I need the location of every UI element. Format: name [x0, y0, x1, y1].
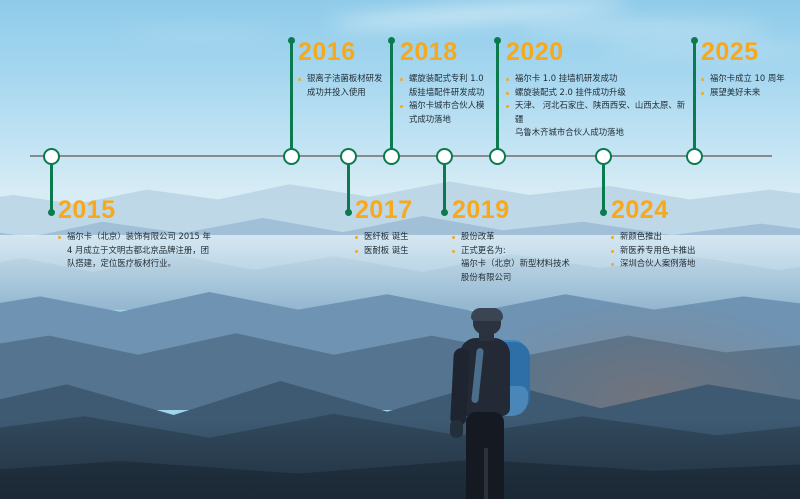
- bullet-list-2025: 福尔卡成立 10 周年 展望美好未来: [701, 72, 796, 99]
- stem-cap-2024: [600, 209, 607, 216]
- bullet-list-2024: 新颜色推出 新医养专用色卡推出 深圳合伙人案例落地: [611, 230, 741, 271]
- entry-2015[interactable]: 2015 福尔卡（北京）装饰有限公司 2015 年 4 月成立于文明古都北京品牌…: [58, 198, 243, 271]
- bullet-item: 正式更名为: 福尔卡（北京）新型材料技术 股份有限公司: [452, 244, 572, 285]
- stem-cap-2025: [691, 37, 698, 44]
- bullet-item: 新医养专用色卡推出: [611, 244, 741, 258]
- node-2016[interactable]: [283, 148, 300, 165]
- hiker-hand: [450, 420, 463, 438]
- node-2020[interactable]: [489, 148, 506, 165]
- entry-2017[interactable]: 2017 医纤板 诞生 医耐板 诞生: [355, 198, 450, 257]
- year-label-2018: 2018: [400, 40, 495, 65]
- stem-cap-2017: [345, 209, 352, 216]
- stem-cap-2020: [494, 37, 501, 44]
- year-label-2017: 2017: [355, 198, 450, 223]
- stem-2017: [347, 165, 350, 212]
- stem-2025: [693, 40, 696, 152]
- entry-2016[interactable]: 2016 银离子洁菌板材研发 成功并投入使用: [298, 40, 393, 99]
- stem-2020: [496, 40, 499, 152]
- bullet-item: 福尔卡（北京）装饰有限公司 2015 年 4 月成立于文明古都北京品牌注册，团 …: [58, 230, 243, 271]
- bullet-item: 新颜色推出: [611, 230, 741, 244]
- bullet-item: 福尔卡成立 10 周年: [701, 72, 796, 86]
- year-label-2016: 2016: [298, 40, 393, 65]
- bullet-item: 螺旋装配式 2.0 挂件成功升级: [506, 86, 686, 100]
- hiker-leg-split: [484, 448, 488, 499]
- bullet-list-2020: 福尔卡 1.0 挂墙机研发成功 螺旋装配式 2.0 挂件成功升级 天津、 河北石…: [506, 72, 686, 140]
- bullet-item: 医纤板 诞生: [355, 230, 450, 244]
- bullet-list-2016: 银离子洁菌板材研发 成功并投入使用: [298, 72, 393, 99]
- entry-2025[interactable]: 2025 福尔卡成立 10 周年 展望美好未来: [701, 40, 796, 99]
- bullet-list-2015: 福尔卡（北京）装饰有限公司 2015 年 4 月成立于文明古都北京品牌注册，团 …: [58, 230, 243, 271]
- entry-2024[interactable]: 2024 新颜色推出 新医养专用色卡推出 深圳合伙人案例落地: [611, 198, 741, 271]
- year-label-2024: 2024: [611, 198, 741, 223]
- stem-cap-2015: [48, 209, 55, 216]
- entry-2020[interactable]: 2020 福尔卡 1.0 挂墙机研发成功 螺旋装配式 2.0 挂件成功升级 天津…: [506, 40, 686, 140]
- cloud: [520, 22, 770, 34]
- timeline-axis: [30, 155, 772, 157]
- timeline-infographic: 2015 福尔卡（北京）装饰有限公司 2015 年 4 月成立于文明古都北京品牌…: [0, 0, 800, 499]
- bullet-item: 医耐板 诞生: [355, 244, 450, 258]
- node-2017[interactable]: [340, 148, 357, 165]
- bullet-item: 螺旋装配式专利 1.0 版挂墙配件研发成功: [400, 72, 495, 99]
- node-2025[interactable]: [686, 148, 703, 165]
- year-label-2015: 2015: [58, 198, 243, 223]
- hiker-figure: [438, 308, 548, 499]
- year-label-2020: 2020: [506, 40, 686, 65]
- bullet-list-2019: 股份改革 正式更名为: 福尔卡（北京）新型材料技术 股份有限公司: [452, 230, 572, 284]
- bullet-item: 展望美好未来: [701, 86, 796, 100]
- year-label-2019: 2019: [452, 198, 572, 223]
- node-2019[interactable]: [436, 148, 453, 165]
- cloud: [120, 30, 280, 39]
- bullet-item: 福尔卡 1.0 挂墙机研发成功: [506, 72, 686, 86]
- hiker-beanie: [471, 308, 503, 321]
- node-2018[interactable]: [383, 148, 400, 165]
- stem-2016: [290, 40, 293, 152]
- stem-2015: [50, 165, 53, 212]
- bullet-list-2018: 螺旋装配式专利 1.0 版挂墙配件研发成功 福尔卡城市合伙人模 式成功落地: [400, 72, 495, 126]
- entry-2019[interactable]: 2019 股份改革 正式更名为: 福尔卡（北京）新型材料技术 股份有限公司: [452, 198, 572, 284]
- bullet-item: 福尔卡城市合伙人模 式成功落地: [400, 99, 495, 126]
- bullet-item: 深圳合伙人案例落地: [611, 257, 741, 271]
- year-label-2025: 2025: [701, 40, 796, 65]
- entry-2018[interactable]: 2018 螺旋装配式专利 1.0 版挂墙配件研发成功 福尔卡城市合伙人模 式成功…: [400, 40, 495, 126]
- bullet-item: 股份改革: [452, 230, 572, 244]
- bullet-item: 银离子洁菌板材研发 成功并投入使用: [298, 72, 393, 99]
- stem-2024: [602, 165, 605, 212]
- node-2015[interactable]: [43, 148, 60, 165]
- valley-shadow: [0, 420, 800, 499]
- stem-cap-2016: [288, 37, 295, 44]
- node-2024[interactable]: [595, 148, 612, 165]
- bullet-item: 天津、 河北石家庄、陕西西安、山西太原、新疆 乌鲁木齐城市合伙人成功落地: [506, 99, 686, 140]
- bullet-list-2017: 医纤板 诞生 医耐板 诞生: [355, 230, 450, 257]
